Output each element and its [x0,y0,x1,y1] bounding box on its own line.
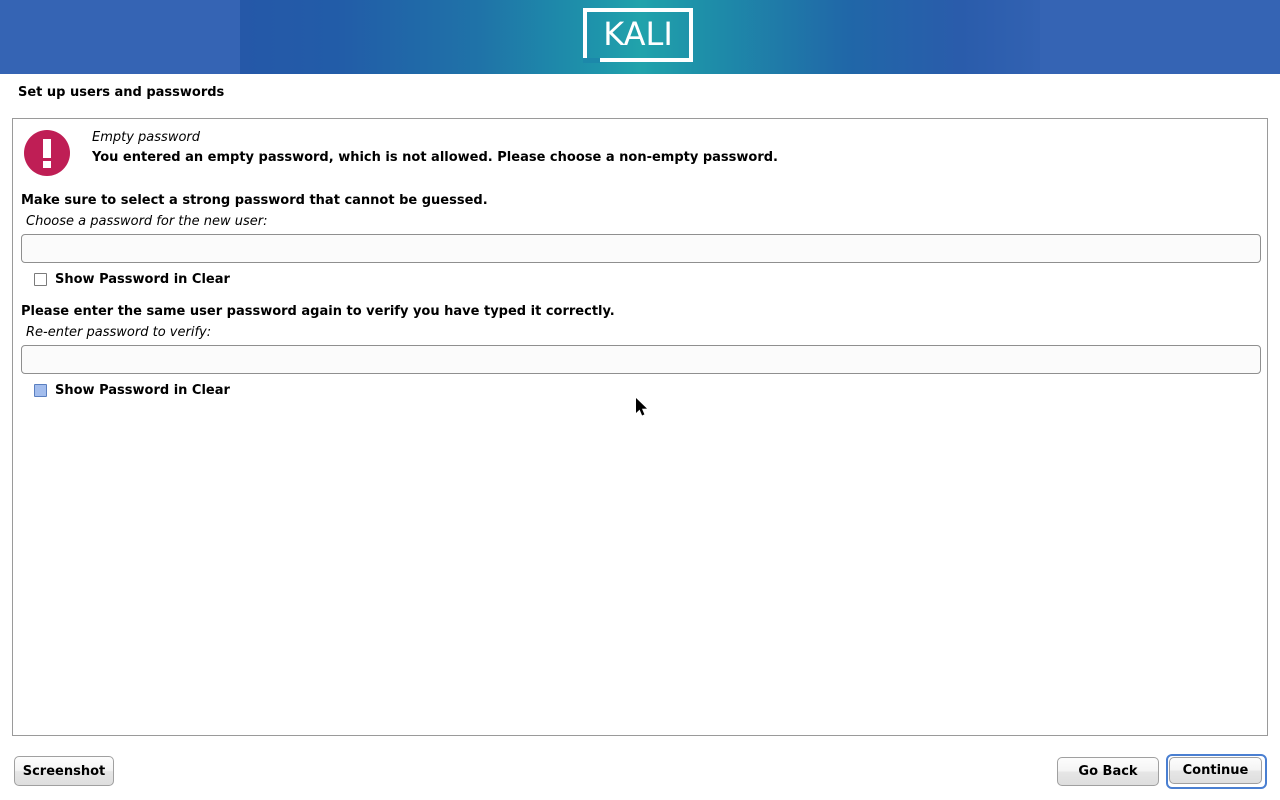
show-password-label-2: Show Password in Clear [55,383,230,398]
error-title: Empty password [92,129,1242,146]
go-back-button[interactable]: Go Back [1057,757,1159,786]
password-section-heading: Make sure to select a strong password th… [21,193,1261,208]
error-description: You entered an empty password, which is … [92,148,1242,168]
password-input[interactable] [21,234,1261,263]
verify-password-input[interactable] [21,345,1261,374]
alert-exclamation-icon [24,130,70,176]
page-title: Set up users and passwords [18,85,224,100]
verify-section: Please enter the same user password agai… [21,304,1261,398]
show-password-checkbox-1[interactable] [34,273,47,286]
kali-banner: KALI [0,0,1280,74]
show-password-row-1[interactable]: Show Password in Clear [34,272,1261,287]
show-password-row-2[interactable]: Show Password in Clear [34,383,1261,398]
error-text-group: Empty password You entered an empty pass… [92,129,1242,168]
content-panel: Empty password You entered an empty pass… [12,118,1268,736]
verify-section-heading: Please enter the same user password agai… [21,304,1261,319]
show-password-label-1: Show Password in Clear [55,272,230,287]
exclamation-stem [43,139,51,158]
installer-screen: KALI Set up users and passwords Empty pa… [0,0,1280,800]
kali-logo: KALI [583,8,697,66]
show-password-checkbox-2[interactable] [34,384,47,397]
kali-logo-text: KALI [583,8,693,62]
password-field-label: Choose a password for the new user: [26,214,1261,229]
exclamation-dot [43,161,51,168]
screenshot-button[interactable]: Screenshot [14,756,114,786]
continue-button[interactable]: Continue [1169,757,1262,784]
verify-field-label: Re-enter password to verify: [26,325,1261,340]
continue-button-focus-ring: Continue [1166,754,1267,789]
password-form: Make sure to select a strong password th… [21,193,1261,398]
